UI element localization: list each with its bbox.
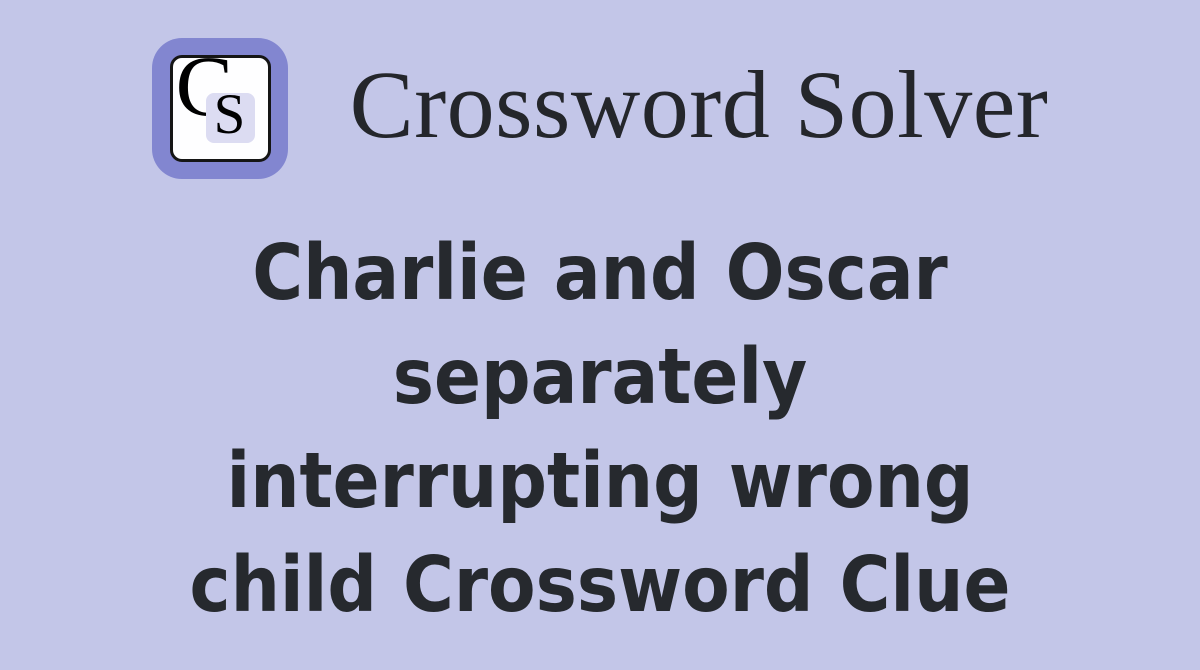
site-header: C S Crossword Solver (0, 30, 1200, 186)
logo-inner-tile: C S (170, 55, 271, 162)
page-title: Charlie and Oscar separately interruptin… (154, 222, 1046, 638)
page-root: C S Crossword Solver Charlie and Oscar s… (0, 0, 1200, 670)
logo-letter-s: S (214, 86, 246, 143)
crossword-solver-logo[interactable]: C S (152, 38, 288, 179)
site-title[interactable]: Crossword Solver (350, 57, 1049, 159)
